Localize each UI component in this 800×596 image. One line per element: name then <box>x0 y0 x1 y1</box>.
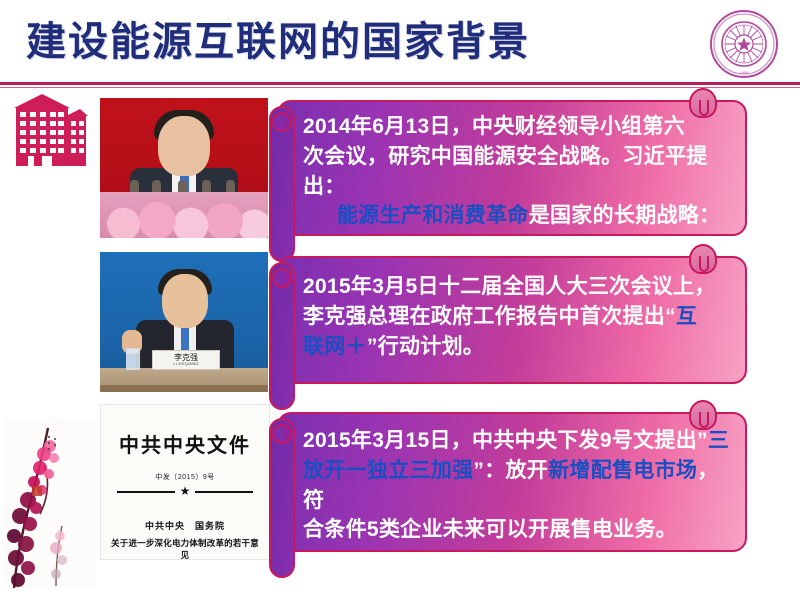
building-icon <box>8 90 90 168</box>
bubble-2014-central-finance-meeting[interactable]: 2014年6月13日，中央财经领导小组第六 次会议，研究中国能源安全战略。习近平… <box>277 100 747 236</box>
bubble3-line2-mid: ”：放开 <box>473 459 548 482</box>
bubble3-line1-plain: 2015年3月15日，中共中央下发9号文提出” <box>303 429 708 452</box>
nameplate-en: LI KEQIANG <box>173 362 199 366</box>
scroll-dot-icon <box>272 268 292 288</box>
nameplate: 李克强 LI KEQIANG <box>152 350 220 370</box>
bubble-2015-document-no9[interactable]: 2015年3月15日，中共中央下发9号文提出”三 放开一独立三加强”：放开新增配… <box>277 412 747 552</box>
bubble1-line3: 出： <box>303 172 733 202</box>
bubble-text: 2014年6月13日，中央财经领导小组第六 次会议，研究中国能源安全战略。习近平… <box>303 112 733 234</box>
document-subject: 关于进一步深化电力体制改革的若干意见 <box>111 537 259 560</box>
seal-year: 1955 <box>740 70 750 75</box>
li-keqiang-press-conference-photo: 李克强 LI KEQIANG <box>100 252 268 392</box>
document-org: 中共中央 国务院 <box>111 519 259 532</box>
bubble1-line4: 能源生产和消费革命是国家的长期战略： <box>303 201 733 231</box>
bubble3-line2-highlight: 放开一独立三加强 <box>303 459 473 482</box>
bubble3-line2: 放开一独立三加强”：放开新增配售电市场，符 <box>303 456 733 516</box>
bubble-2015-npc-internet-plus[interactable]: 2015年3月5日十二届全国人大三次会议上， 李克强总理在政府工作报告中首次提出… <box>277 256 747 384</box>
page-title: 建设能源互联网的国家背景 <box>26 20 530 64</box>
bubble2-line3-highlight: 联网＋ <box>303 335 367 358</box>
slide-root: 建设能源互联网的国家背景 1955 <box>0 0 800 596</box>
bubble2-line2-plain: 李克强总理在政府工作报告中首次提出“ <box>303 305 676 328</box>
scroll-edge-decoration <box>269 106 295 262</box>
document-number: 中发〔2015〕9号 <box>111 472 259 482</box>
bubble2-line3-rest: ”行动计划。 <box>367 335 484 358</box>
plum-blossom-painting <box>4 418 96 590</box>
bubble1-line1: 2014年6月13日，中央财经领导小组第六 <box>303 112 733 142</box>
document-star-divider: ★ <box>111 487 259 497</box>
bubble1-line2: 次会议，研究中国能源安全战略。习近平提 <box>303 142 733 172</box>
university-seal-icon: 1955 <box>708 8 780 80</box>
scroll-edge-decoration <box>269 418 295 578</box>
xi-jinping-speech-photo <box>100 98 268 238</box>
cpc-central-committee-document-photo: 中共中央文件 中发〔2015〕9号 ★ 中共中央 国务院 关于进一步深化电力体制… <box>100 404 270 560</box>
header-divider <box>0 82 800 85</box>
pin-icon <box>689 244 717 274</box>
star-icon: ★ <box>180 485 191 497</box>
bubble1-line4-highlight: 能源生产和消费革命 <box>337 204 529 227</box>
bubble-text: 2015年3月15日，中共中央下发9号文提出”三 放开一独立三加强”：放开新增配… <box>303 426 733 545</box>
bubble2-line2-highlight: 互 <box>676 305 697 328</box>
bubble3-line1-highlight: 三 <box>708 429 729 452</box>
bubble-text: 2015年3月5日十二届全国人大三次会议上， 李克强总理在政府工作报告中首次提出… <box>303 272 733 361</box>
bubble3-line1: 2015年3月15日，中共中央下发9号文提出”三 <box>303 426 733 456</box>
bubble1-line4-rest: 是国家的长期战略： <box>529 204 721 227</box>
document-title: 中共中央文件 <box>111 429 259 458</box>
scroll-dot-icon <box>272 424 292 444</box>
bubble2-line2: 李克强总理在政府工作报告中首次提出“互 <box>303 302 733 332</box>
bubble3-line2-highlight2: 新增配售电市场 <box>548 459 697 482</box>
bubble2-line1: 2015年3月5日十二届全国人大三次会议上， <box>303 272 733 302</box>
scroll-dot-icon <box>272 112 292 132</box>
scroll-edge-decoration <box>269 262 295 410</box>
bubble3-line3: 合条件5类企业未来可以开展售电业务。 <box>303 515 733 545</box>
bubble2-line3: 联网＋”行动计划。 <box>303 332 733 362</box>
header-divider-thin <box>0 87 800 88</box>
